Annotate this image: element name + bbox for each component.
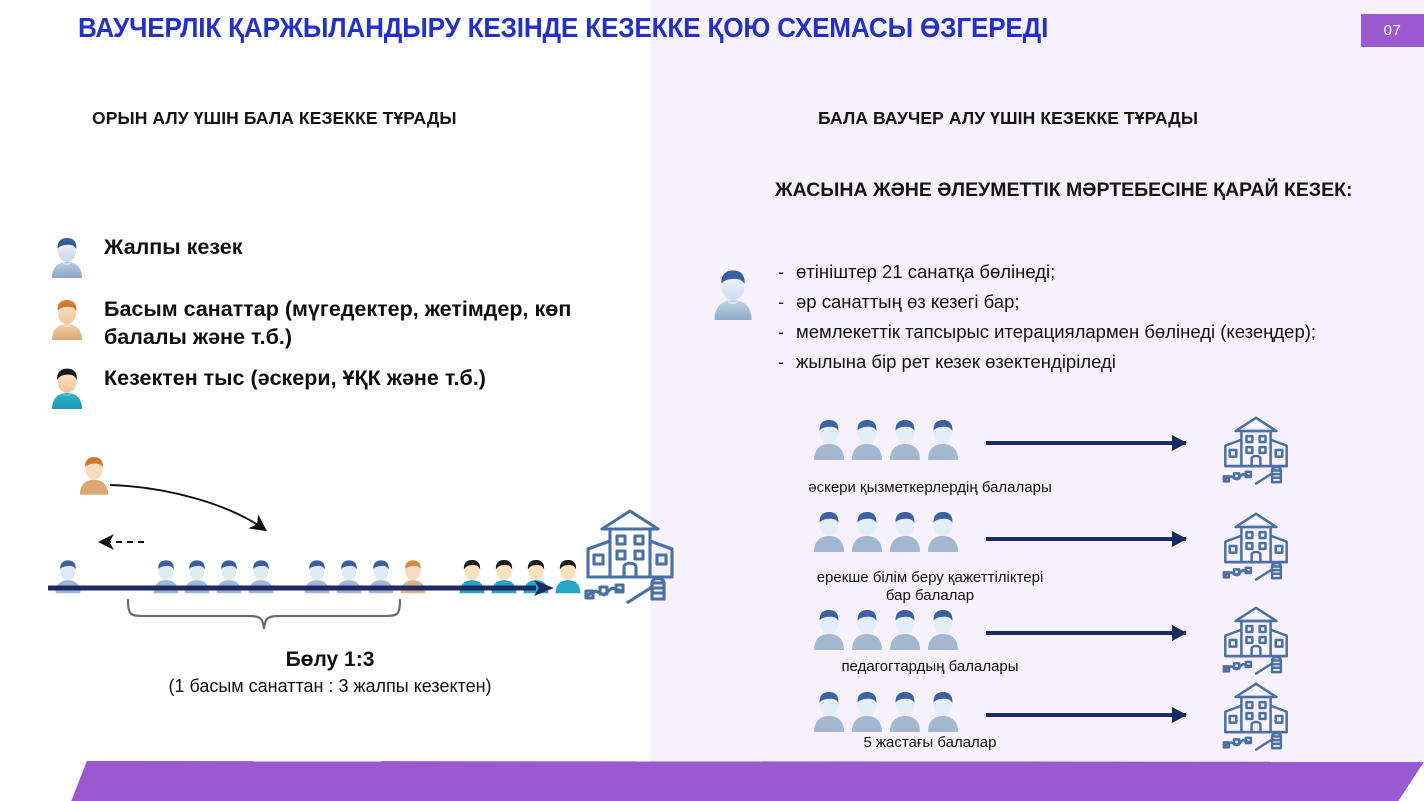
bullet-item: - жылына бір рет кезек өзектендіріледі: [778, 348, 1398, 376]
avatar-blue-icon: [888, 608, 922, 650]
page-title: ВАУЧЕРЛІК ҚАРЖЫЛАНДЫРУ КЕЗІНДЕ КЕЗЕККЕ Қ…: [78, 12, 1228, 44]
bullet-text: мемлекеттік тапсырыс итерациялармен бөлі…: [796, 318, 1398, 346]
avatar-blue-icon: [926, 418, 960, 460]
avatar-blue-icon: [812, 418, 846, 460]
bullet-item: - мемлекеттік тапсырыс итерациялармен бө…: [778, 318, 1398, 346]
page-number-badge: 07: [1361, 14, 1424, 47]
category-figures: [812, 510, 960, 552]
bullet-dash: -: [778, 258, 796, 286]
avatar-blue-icon: [850, 510, 884, 552]
legend-list: Жалпы кезек: [50, 234, 640, 409]
category-caption: ерекше білім беру қажеттіліктері бар бал…: [700, 569, 1160, 606]
avatar-blue-icon: [712, 268, 754, 320]
category-arrow-icon: [986, 713, 1198, 717]
bullet-item: - өтініштер 21 санатқа бөлінеді;: [778, 258, 1398, 286]
bottom-decorative-bar: [0, 761, 1424, 801]
avatar-blue-icon: [812, 608, 846, 650]
avatar-blue-icon: [850, 608, 884, 650]
slide-header: ВАУЧЕРЛІК ҚАРЖЫЛАНДЫРУ КЕЗІНДЕ КЕЗЕККЕ Қ…: [0, 0, 1424, 62]
school-building-icon: [578, 503, 682, 612]
ratio-caption-sub: (1 басым санаттан : 3 жалпы кезектен): [40, 676, 620, 697]
bullet-text: өтініштер 21 санатқа бөлінеді;: [796, 258, 1398, 286]
legend-item-priority: Басым санаттар (мүгедектер, жетімдер, кө…: [50, 296, 640, 351]
school-building-icon: [1214, 602, 1298, 683]
category-arrow-icon: [986, 441, 1198, 445]
school-building-icon: [1214, 678, 1298, 759]
category-figures: [812, 608, 960, 650]
category-caption: 5 жастағы балалар: [700, 734, 1160, 752]
category-caption: педагогтардың балалары: [700, 658, 1160, 676]
category-caption: әскери қызметкерлердің балалары: [700, 479, 1160, 497]
bullet-dash: -: [778, 348, 796, 376]
avatar-blue-icon: [888, 510, 922, 552]
category-arrow-icon: [986, 631, 1198, 635]
avatar-blue-icon: [926, 510, 960, 552]
avatar-blue-icon: [926, 608, 960, 650]
avatar-orange-icon: [50, 298, 84, 340]
category-arrow-icon: [986, 537, 1198, 541]
left-column-title: ОРЫН АЛУ ҮШІН БАЛА КЕЗЕККЕ ТҰРАДЫ: [92, 108, 457, 129]
category-figures: [812, 418, 960, 460]
right-subheading: ЖАСЫНА ЖӘНЕ ӘЛЕУМЕТТІК МӘРТЕБЕСІНЕ ҚАРАЙ…: [775, 177, 1395, 204]
ratio-caption-main: Бөлу 1:3: [40, 648, 620, 672]
avatar-blue-icon: [812, 510, 846, 552]
avatar-orange-icon: [78, 455, 110, 495]
legend-item-label: Кезектен тыс (әскери, ҰҚК және т.б.): [104, 365, 486, 393]
avatar-blue-icon: [926, 690, 960, 732]
avatar-blue-icon: [50, 236, 84, 278]
avatar-teal-icon: [50, 367, 84, 409]
legend-item-general: Жалпы кезек: [50, 234, 640, 278]
legend-item-label: Басым санаттар (мүгедектер, жетімдер, кө…: [104, 296, 640, 351]
bullet-dash: -: [778, 288, 796, 316]
bullet-list: - өтініштер 21 санатқа бөлінеді; - әр са…: [778, 258, 1398, 378]
bullet-dash: -: [778, 318, 796, 346]
dashed-left-arrow-icon: [92, 533, 152, 551]
school-building-icon: [1214, 412, 1298, 493]
avatar-blue-icon: [850, 418, 884, 460]
avatar-blue-icon: [812, 690, 846, 732]
bullet-text: жылына бір рет кезек өзектендіріледі: [796, 348, 1398, 376]
legend-item-outofqueue: Кезектен тыс (әскери, ҰҚК және т.б.): [50, 365, 640, 409]
avatar-blue-icon: [888, 418, 922, 460]
avatar-blue-icon: [888, 690, 922, 732]
bullet-text: әр санаттың өз кезегі бар;: [796, 288, 1398, 316]
legend-item-label: Жалпы кезек: [104, 234, 242, 262]
left-queue-diagram: [40, 455, 650, 640]
slide-canvas: ВАУЧЕРЛІК ҚАРЖЫЛАНДЫРУ КЕЗІНДЕ КЕЗЕККЕ Қ…: [0, 0, 1424, 801]
school-building-icon: [1214, 508, 1298, 589]
avatar-blue-icon: [850, 690, 884, 732]
ratio-brace-icon: [122, 598, 412, 634]
bullet-item: - әр санаттың өз кезегі бар;: [778, 288, 1398, 316]
queue-baseline-arrow-icon: [48, 579, 560, 599]
right-column-title: БАЛА ВАУЧЕР АЛУ ҮШІН КЕЗЕККЕ ТҰРАДЫ: [818, 108, 1198, 129]
category-figures: [812, 690, 960, 732]
